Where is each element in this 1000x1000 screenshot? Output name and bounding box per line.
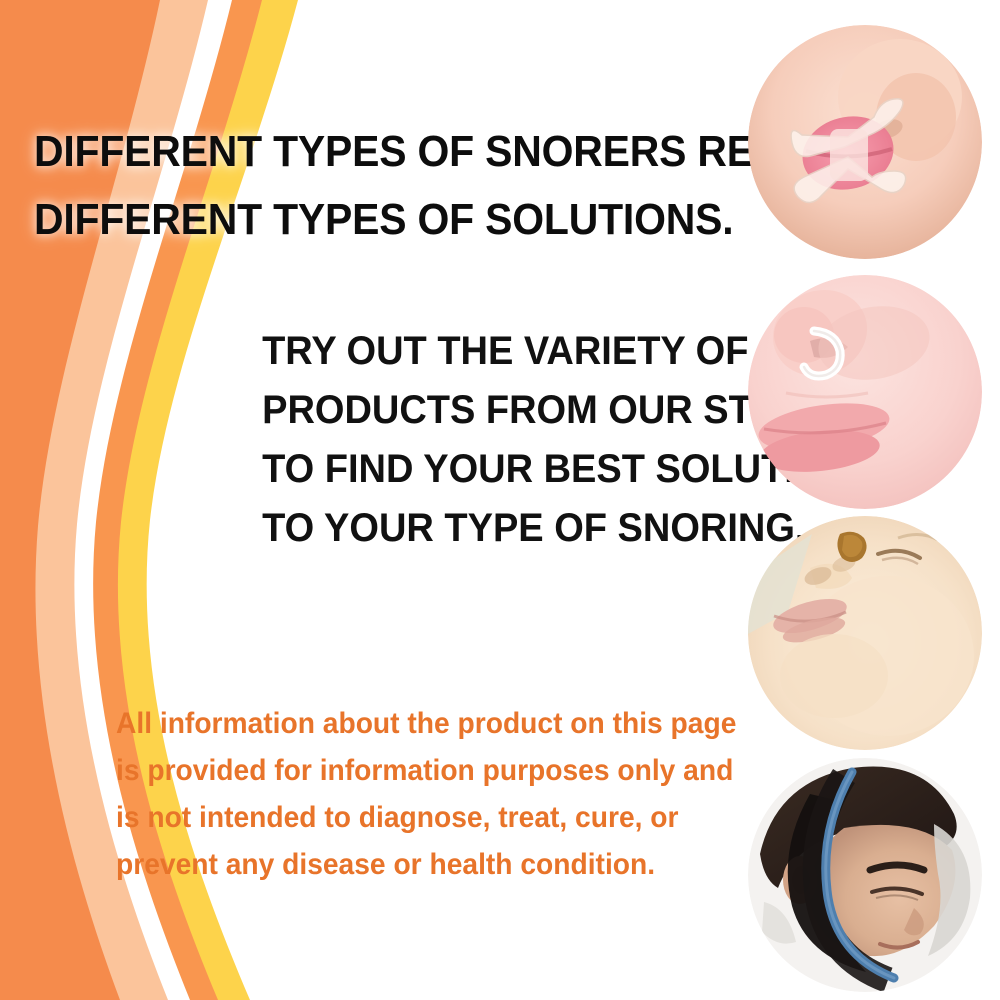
disclaimer-line-2: is provided for information purposes onl…: [116, 747, 661, 794]
nasal-strip-sleeping-child-photo: [748, 516, 982, 750]
disclaimer-line-3: is not intended to diagnose, treat, cure…: [116, 794, 661, 841]
subheadline-line-2: PRODUCTS FROM OUR STORE: [262, 381, 720, 440]
subheadline-line-1: TRY OUT THE VARIETY OF: [262, 322, 720, 381]
headline-line-1: DIFFERENT TYPES OF SNORERS REQUIRE: [34, 118, 685, 186]
disclaimer-line-1: All information about the product on thi…: [116, 700, 661, 747]
headline-line-2: DIFFERENT TYPES OF SOLUTIONS.: [34, 186, 685, 254]
subheadline: TRY OUT THE VARIETY OF PRODUCTS FROM OUR…: [262, 322, 720, 558]
chin-strap-sleeping-man-photo: [748, 758, 982, 992]
nasal-dilator-clip-photo: [748, 275, 982, 509]
mouth-tape-strip-photo: [748, 25, 982, 259]
subheadline-line-3: TO FIND YOUR BEST SOLUTION: [262, 440, 720, 499]
headline: DIFFERENT TYPES OF SNORERS REQUIRE DIFFE…: [34, 118, 685, 254]
disclaimer-line-4: prevent any disease or health condition.: [116, 841, 661, 888]
subheadline-line-4: TO YOUR TYPE OF SNORING.: [262, 499, 720, 558]
disclaimer-text: All information about the product on thi…: [116, 700, 661, 888]
infographic-canvas: DIFFERENT TYPES OF SNORERS REQUIRE DIFFE…: [0, 0, 1000, 1000]
